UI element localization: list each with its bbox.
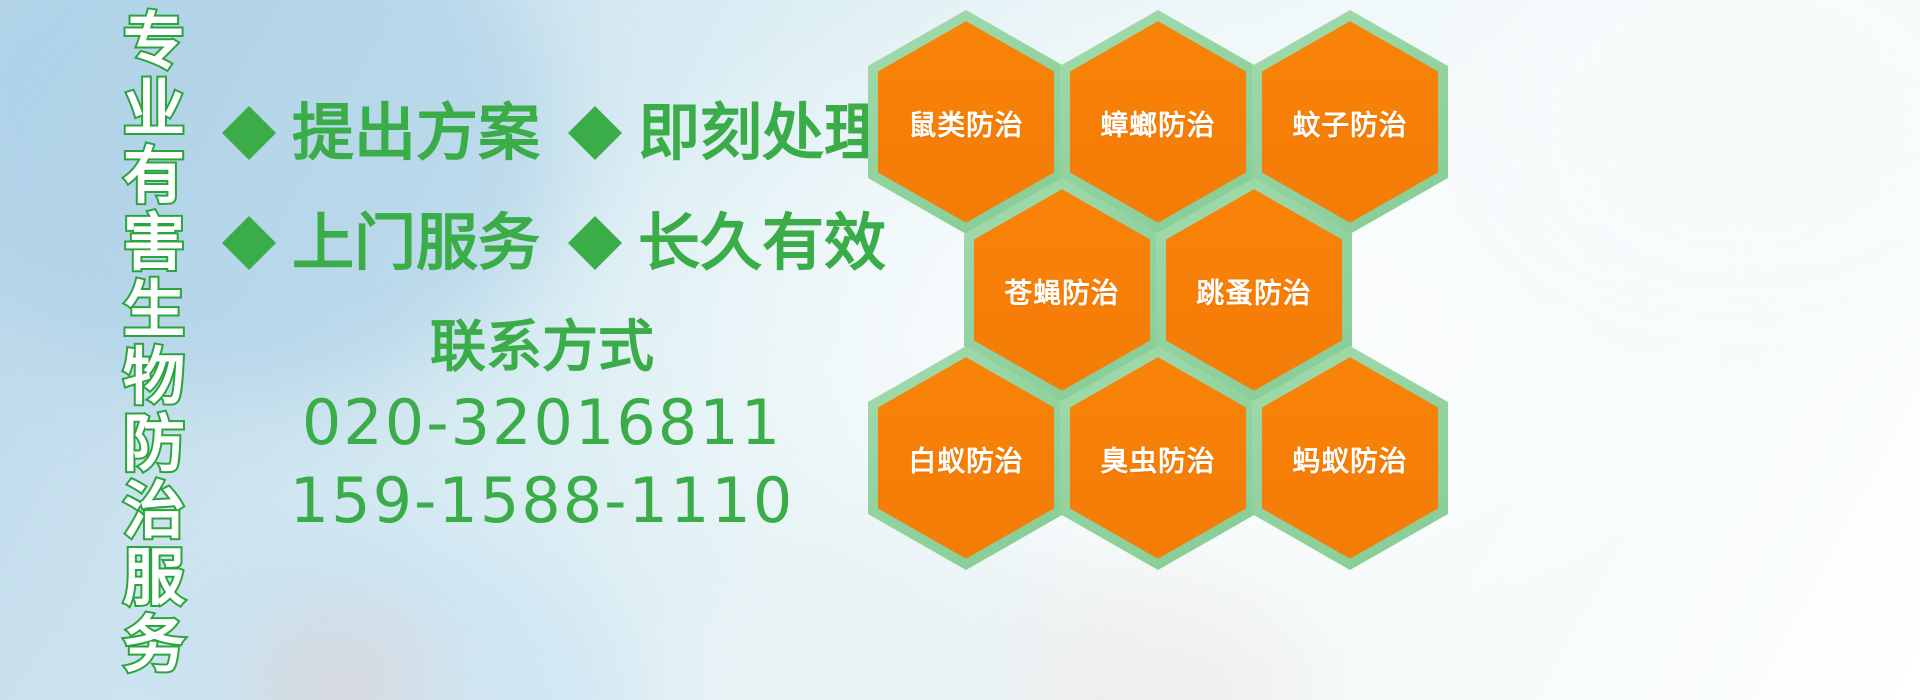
vertical-headline-char: 专 (123, 8, 185, 75)
service-label: 跳蚤防治 (1196, 270, 1311, 311)
vertical-headline-char: 害 (123, 209, 185, 276)
contact-block: 联系方式 020-32016811 159-1588-1110 (222, 312, 862, 540)
service-honeycomb: 鼠类防治 蟑螂防治 蚊子防治 苍蝇防治 跳蚤防治 (862, 2, 1462, 562)
vertical-headline-char: 治 (123, 477, 185, 544)
service-label: 蟑螂防治 (1100, 102, 1215, 143)
diamond-icon (568, 79, 622, 133)
service-label: 蚊子防治 (1292, 102, 1407, 143)
feature-item-onsite-service: 上门服务 (222, 210, 540, 276)
vertical-headline: 专 业 有 害 生 物 防 治 服 务 (108, 8, 200, 568)
diamond-icon (222, 189, 276, 243)
service-label: 苍蝇防治 (1004, 270, 1119, 311)
phone-number-mobile[interactable]: 159-1588-1110 (222, 462, 862, 540)
background-blob (980, 590, 1300, 700)
service-label: 白蚁防治 (908, 438, 1023, 479)
phone-number-landline[interactable]: 020-32016811 (222, 384, 862, 462)
feature-list: 提出方案 即刻处理 上门服务 长久有效 (222, 78, 882, 298)
service-label: 鼠类防治 (908, 102, 1023, 143)
feature-item-propose-plan: 提出方案 (222, 100, 540, 166)
vertical-headline-char: 有 (123, 142, 185, 209)
diamond-icon (222, 79, 276, 133)
vertical-headline-char: 业 (123, 75, 185, 142)
feature-item-long-lasting: 长久有效 (568, 210, 886, 276)
feature-label: 提出方案 (292, 100, 540, 166)
vertical-headline-char: 服 (123, 544, 185, 611)
vertical-headline-char: 务 (123, 611, 185, 678)
vertical-headline-char: 物 (123, 343, 185, 410)
promo-banner: 专 业 有 害 生 物 防 治 服 务 提出方案 即刻处理 上门服务 (0, 0, 1920, 700)
feature-row: 提出方案 即刻处理 (222, 78, 882, 188)
feature-label: 上门服务 (292, 210, 540, 276)
service-hex-termite-control[interactable]: 白蚁防治 (868, 346, 1064, 570)
background-blob (1480, 0, 1920, 320)
contact-heading: 联系方式 (222, 312, 862, 384)
service-label: 臭虫防治 (1100, 438, 1215, 479)
service-hex-bedbug-control[interactable]: 臭虫防治 (1060, 346, 1256, 570)
feature-label: 长久有效 (638, 210, 886, 276)
feature-label: 即刻处理 (638, 100, 886, 166)
service-label: 蚂蚁防治 (1292, 438, 1407, 479)
vertical-headline-char: 防 (123, 410, 185, 477)
background-blob (250, 610, 430, 700)
feature-row: 上门服务 长久有效 (222, 188, 882, 298)
feature-item-immediate-handling: 即刻处理 (568, 100, 886, 166)
service-hex-ant-control[interactable]: 蚂蚁防治 (1252, 346, 1448, 570)
vertical-headline-char: 生 (123, 276, 185, 343)
diamond-icon (568, 189, 622, 243)
